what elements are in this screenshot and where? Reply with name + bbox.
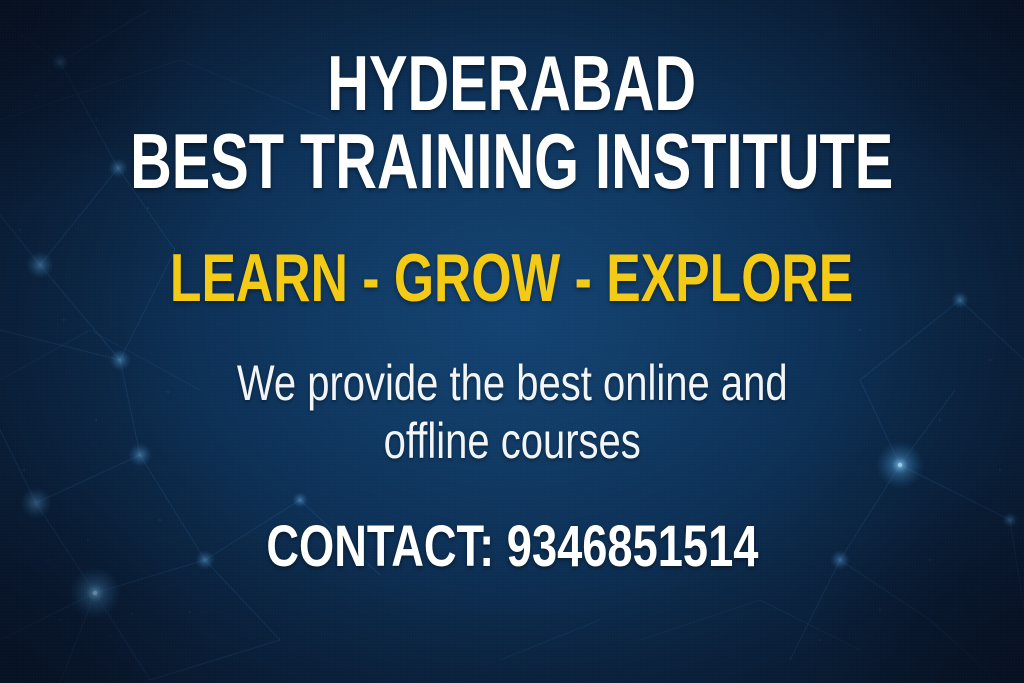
- subtitle-line-1: We provide the best online and: [237, 355, 788, 411]
- tagline: LEARN - GROW - EXPLORE: [170, 244, 853, 312]
- subtitle-line-2: offline courses: [237, 412, 788, 470]
- headline-line-2: BEST TRAINING INSTITUTE: [130, 122, 893, 200]
- banner-content: HYDERABAD BEST TRAINING INSTITUTE LEARN …: [0, 0, 1024, 683]
- contact-line: CONTACT: 9346851514: [266, 518, 758, 576]
- headline: HYDERABAD BEST TRAINING INSTITUTE: [130, 44, 893, 200]
- headline-line-1: HYDERABAD: [328, 39, 697, 127]
- subtitle: We provide the best online and offline c…: [237, 354, 788, 470]
- promo-banner: HYDERABAD BEST TRAINING INSTITUTE LEARN …: [0, 0, 1024, 683]
